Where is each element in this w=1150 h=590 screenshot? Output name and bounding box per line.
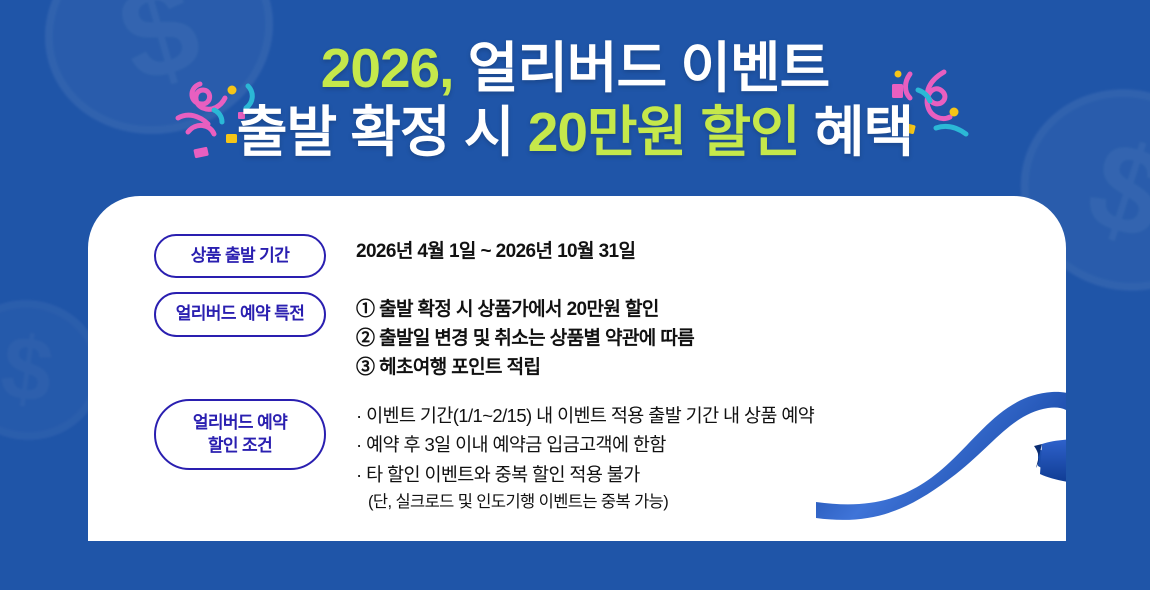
condition-item-1: · 이벤트 기간(1/1~2/15) 내 이벤트 적용 출발 기간 내 상품 예… [356,401,814,430]
headline-line-2-post: 혜택 [814,101,913,163]
label-travel-period: 상품 출발 기간 [154,234,326,278]
perk-item-2: ② 출발일 변경 및 취소는 상품별 약관에 따름 [356,325,694,354]
row-travel-period: 상품 출발 기간 2026년 4월 1일 ~ 2026년 10월 31일 [88,234,1066,278]
headline-line-1-rest: 얼리버드 이벤트 [468,37,829,99]
info-card: 상품 출발 기간 2026년 4월 1일 ~ 2026년 10월 31일 얼리버… [88,196,1066,541]
headline: 2026, 얼리버드 이벤트 출발 확정 시 20만원 할인 혜택 [0,36,1150,165]
value-discount-conditions: · 이벤트 기간(1/1~2/15) 내 이벤트 적용 출발 기간 내 상품 예… [356,397,814,515]
row-discount-conditions: 얼리버드 예약 할인 조건 · 이벤트 기간(1/1~2/15) 내 이벤트 적… [88,397,1066,515]
headline-year: 2026, [321,37,454,99]
label-discount-conditions: 얼리버드 예약 할인 조건 [154,399,326,470]
condition-item-3: · 타 할인 이벤트와 중복 할인 적용 불가 [356,460,814,489]
row-earlybird-perks: 얼리버드 예약 특전 ① 출발 확정 시 상품가에서 20만원 할인 ② 출발일… [88,292,1066,383]
info-rows: 상품 출발 기간 2026년 4월 1일 ~ 2026년 10월 31일 얼리버… [88,196,1066,515]
perk-item-1: ① 출발 확정 시 상품가에서 20만원 할인 [356,296,694,325]
headline-line-1: 2026, 얼리버드 이벤트 [0,36,1150,100]
dollar-icon: $ [0,316,59,425]
label-earlybird-perks: 얼리버드 예약 특전 [154,292,326,336]
travel-period-text: 2026년 4월 1일 ~ 2026년 10월 31일 [356,238,635,267]
headline-line-2-pre: 출발 확정 시 [237,101,514,163]
perk-item-3: ③ 헤초여행 포인트 적립 [356,354,694,383]
value-travel-period: 2026년 4월 1일 ~ 2026년 10월 31일 [356,234,635,267]
headline-line-2: 출발 확정 시 20만원 할인 혜택 [0,100,1150,164]
label-discount-conditions-line-2: 할인 조건 [160,435,320,457]
label-discount-conditions-line-1: 얼리버드 예약 [160,412,320,434]
condition-item-2: · 예약 후 3일 이내 예약금 입금고객에 한함 [356,430,814,459]
value-earlybird-perks: ① 출발 확정 시 상품가에서 20만원 할인 ② 출발일 변경 및 취소는 상… [356,292,694,383]
headline-discount: 20만원 할인 [528,101,800,163]
condition-note: (단, 실크로드 및 인도기행 이벤트는 중복 가능) [356,489,814,515]
